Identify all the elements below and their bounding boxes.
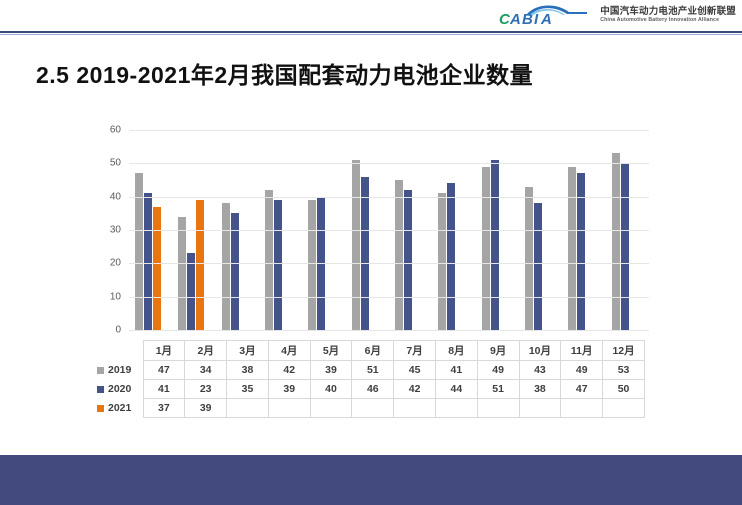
bar-2021-1月[interactable] [153, 207, 161, 330]
y-axis-tick: 0 [115, 325, 121, 336]
table-cell-2019-8月: 41 [435, 361, 477, 380]
brand-lockup: C A B I A 中国汽车动力电池产业创新联盟 China Automotiv… [497, 2, 736, 28]
table-cell-2021-2月: 39 [185, 399, 227, 418]
page-header: C A B I A 中国汽车动力电池产业创新联盟 China Automotiv… [0, 0, 742, 30]
table-cell-2020-10月: 38 [519, 380, 561, 399]
svg-text:B: B [522, 11, 533, 28]
table-col-header-7月: 7月 [394, 341, 436, 361]
cabia-logo-icon: C A B I A [497, 2, 593, 28]
gridline [129, 197, 649, 198]
bar-2019-6月[interactable] [352, 160, 360, 330]
bar-2019-11月[interactable] [568, 167, 576, 330]
plot-canvas [129, 130, 649, 330]
table-col-header-12月: 12月 [603, 341, 645, 361]
header-divider-primary [0, 31, 742, 33]
legend-label: 2021 [108, 402, 131, 414]
bar-2019-9月[interactable] [482, 167, 490, 330]
bar-2020-4月[interactable] [274, 200, 282, 330]
table-body: 2019473438423951454149434953202041233539… [95, 361, 645, 418]
table-cell-2019-2月: 34 [185, 361, 227, 380]
table-col-header-5月: 5月 [310, 341, 352, 361]
table-cell-2019-6月: 51 [352, 361, 394, 380]
gridline [129, 130, 649, 131]
table-cell-2019-5月: 39 [310, 361, 352, 380]
table-col-header-4月: 4月 [268, 341, 310, 361]
table-cell-2021-11月 [561, 399, 603, 418]
table-col-header-10月: 10月 [519, 341, 561, 361]
plot-area: 6050403020100 [95, 130, 655, 340]
data-table: 1月2月3月4月5月6月7月8月9月10月11月12月 201947343842… [95, 340, 645, 418]
page-title: 2.5 2019-2021年2月我国配套动力电池企业数量 [36, 56, 533, 90]
legend-item-2019[interactable]: 2019 [95, 361, 143, 380]
bar-2019-3月[interactable] [222, 203, 230, 330]
gridline [129, 330, 649, 331]
gridline [129, 230, 649, 231]
table-col-header-6月: 6月 [352, 341, 394, 361]
org-name-chinese: 中国汽车动力电池产业创新联盟 [600, 7, 736, 17]
table-cell-2019-1月: 47 [143, 361, 185, 380]
table-cell-2021-7月 [394, 399, 436, 418]
table-cell-2020-7月: 42 [394, 380, 436, 399]
table-corner-cell [95, 341, 143, 361]
table-col-header-2月: 2月 [185, 341, 227, 361]
bar-2019-5月[interactable] [308, 200, 316, 330]
table-cell-2021-4月 [268, 399, 310, 418]
header-divider-secondary [0, 34, 742, 35]
table-cell-2019-7月: 45 [394, 361, 436, 380]
y-axis: 6050403020100 [95, 130, 125, 330]
legend-swatch-icon [97, 386, 104, 393]
bar-2019-12月[interactable] [612, 153, 620, 330]
legend-item-2021[interactable]: 2021 [95, 399, 143, 418]
bar-2020-1月[interactable] [144, 193, 152, 330]
legend-swatch-icon [97, 367, 104, 374]
table-cell-2020-11月: 47 [561, 380, 603, 399]
table-row: 2020412335394046424451384750 [95, 380, 645, 399]
bar-2019-7月[interactable] [395, 180, 403, 330]
y-axis-tick: 50 [110, 158, 121, 169]
y-axis-tick: 40 [110, 191, 121, 202]
table-cell-2021-5月 [310, 399, 352, 418]
y-axis-tick: 10 [110, 291, 121, 302]
table-cell-2021-1月: 37 [143, 399, 185, 418]
table-col-header-1月: 1月 [143, 341, 185, 361]
table-cell-2020-5月: 40 [310, 380, 352, 399]
table-cell-2021-9月 [477, 399, 519, 418]
table-cell-2020-3月: 35 [227, 380, 269, 399]
table-cell-2019-9月: 49 [477, 361, 519, 380]
legend-label: 2019 [108, 364, 131, 376]
legend-label: 2020 [108, 383, 131, 395]
table-cell-2020-9月: 51 [477, 380, 519, 399]
table-col-header-9月: 9月 [477, 341, 519, 361]
footer-band [0, 455, 742, 505]
bar-2020-9月[interactable] [491, 160, 499, 330]
table-col-header-11月: 11月 [561, 341, 603, 361]
brand-text: 中国汽车动力电池产业创新联盟 China Automotive Battery … [600, 7, 736, 23]
bar-2020-8月[interactable] [447, 183, 455, 330]
legend-swatch-icon [97, 405, 104, 412]
table-cell-2019-10月: 43 [519, 361, 561, 380]
svg-text:A: A [540, 11, 552, 28]
bar-2019-10月[interactable] [525, 187, 533, 330]
table-cell-2020-4月: 39 [268, 380, 310, 399]
legend-item-2020[interactable]: 2020 [95, 380, 143, 399]
bar-2021-2月[interactable] [196, 200, 204, 330]
table-cell-2021-8月 [435, 399, 477, 418]
bar-2020-7月[interactable] [404, 190, 412, 330]
table-col-header-3月: 3月 [227, 341, 269, 361]
table-cell-2019-4月: 42 [268, 361, 310, 380]
table-cell-2021-3月 [227, 399, 269, 418]
bar-2020-6月[interactable] [361, 177, 369, 330]
bar-2020-12月[interactable] [621, 163, 629, 330]
table-cell-2021-6月 [352, 399, 394, 418]
bar-2019-8月[interactable] [438, 193, 446, 330]
svg-text:I: I [534, 11, 539, 28]
table-cell-2021-10月 [519, 399, 561, 418]
table-cell-2019-3月: 38 [227, 361, 269, 380]
bar-2020-10月[interactable] [534, 203, 542, 330]
chart-container: 6050403020100 1月2月3月4月5月6月7月8月9月10月11月12… [95, 130, 655, 430]
table-col-header-8月: 8月 [435, 341, 477, 361]
table-row: 20213739 [95, 399, 645, 418]
y-axis-tick: 30 [110, 225, 121, 236]
svg-text:A: A [509, 11, 521, 28]
table-header-row: 1月2月3月4月5月6月7月8月9月10月11月12月 [95, 341, 645, 361]
bar-2019-2月[interactable] [178, 217, 186, 330]
table-cell-2019-11月: 49 [561, 361, 603, 380]
bar-2020-2月[interactable] [187, 253, 195, 330]
org-name-english: China Automotive Battery Innovation Alli… [600, 18, 736, 23]
table-row: 2019473438423951454149434953 [95, 361, 645, 380]
gridline [129, 263, 649, 264]
table-cell-2020-8月: 44 [435, 380, 477, 399]
table-cell-2020-2月: 23 [185, 380, 227, 399]
y-axis-tick: 20 [110, 258, 121, 269]
data-table-wrapper: 1月2月3月4月5月6月7月8月9月10月11月12月 201947343842… [95, 340, 655, 418]
gridline [129, 297, 649, 298]
bar-2019-4月[interactable] [265, 190, 273, 330]
table-cell-2019-12月: 53 [603, 361, 645, 380]
y-axis-tick: 60 [110, 125, 121, 136]
table-cell-2020-12月: 50 [603, 380, 645, 399]
table-cell-2020-1月: 41 [143, 380, 185, 399]
gridline [129, 163, 649, 164]
table-cell-2020-6月: 46 [352, 380, 394, 399]
table-cell-2021-12月 [603, 399, 645, 418]
